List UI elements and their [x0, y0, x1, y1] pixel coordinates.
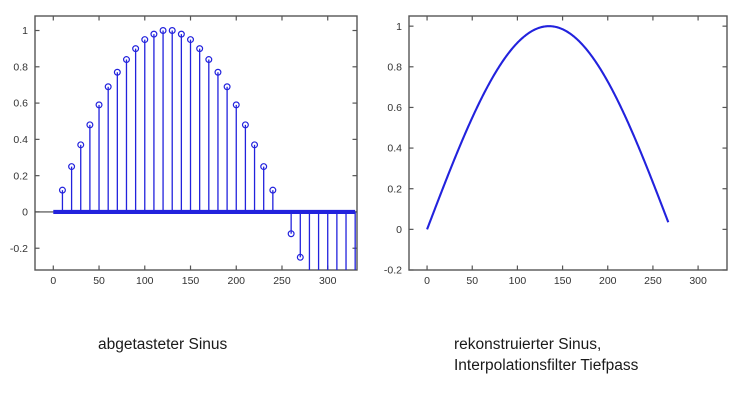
x-tick-label: 50 — [93, 275, 105, 287]
plot-frame — [409, 16, 727, 270]
x-tick-label: 250 — [644, 275, 662, 287]
x-tick-label: 50 — [466, 275, 478, 287]
x-tick-label: 150 — [182, 275, 200, 287]
sampled-sine-svg: 050100150200250300-0.200.20.40.60.81 — [0, 0, 376, 310]
x-tick-label: 250 — [273, 275, 291, 287]
y-tick-label: -0.2 — [384, 265, 402, 277]
x-tick-label: 100 — [136, 275, 154, 287]
x-tick-label: 200 — [227, 275, 245, 287]
y-tick-label: 0.4 — [13, 134, 28, 146]
y-tick-label: 0.4 — [387, 143, 402, 155]
caption-reconstructed-sine: rekonstruierter Sinus, Interpolationsfil… — [454, 334, 638, 376]
reconstructed-sine-svg: 050100150200250300-0.200.20.40.60.81 — [376, 0, 752, 310]
figure-container: 050100150200250300-0.200.20.40.60.81 050… — [0, 0, 752, 407]
plot-reconstructed-sine: 050100150200250300-0.200.20.40.60.81 — [376, 0, 752, 310]
y-tick-label: 1 — [396, 21, 402, 33]
y-tick-label: -0.2 — [10, 243, 28, 255]
y-tick-label: 0.6 — [387, 102, 402, 114]
x-tick-label: 150 — [554, 275, 572, 287]
y-tick-label: 0 — [22, 207, 28, 219]
x-tick-label: 0 — [424, 275, 430, 287]
plot-sampled-sine: 050100150200250300-0.200.20.40.60.81 — [0, 0, 376, 310]
sine-curve — [427, 26, 668, 229]
x-tick-label: 0 — [50, 275, 56, 287]
x-tick-label: 300 — [689, 275, 707, 287]
y-tick-label: 0.8 — [13, 61, 28, 73]
x-tick-label: 100 — [509, 275, 527, 287]
stem-marker — [307, 276, 313, 282]
y-tick-label: 0 — [396, 224, 402, 236]
stem-series — [35, 28, 358, 310]
y-tick-label: 0.2 — [13, 170, 28, 182]
y-tick-label: 0.6 — [13, 98, 28, 110]
x-tick-label: 200 — [599, 275, 617, 287]
stem-marker — [316, 296, 322, 302]
caption-sampled-sine: abgetasteter Sinus — [98, 334, 227, 355]
y-tick-label: 0.2 — [387, 183, 402, 195]
y-tick-label: 0.8 — [387, 61, 402, 73]
x-tick-label: 300 — [319, 275, 337, 287]
y-tick-label: 1 — [22, 25, 28, 37]
